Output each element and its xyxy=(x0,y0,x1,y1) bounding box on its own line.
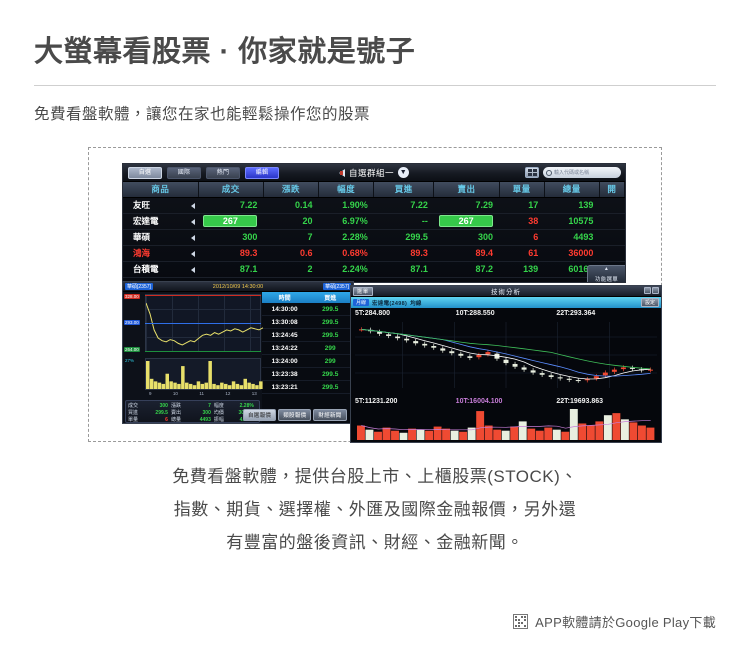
x-tick: 13 xyxy=(252,391,257,399)
tab-hot[interactable]: 熱門 xyxy=(206,167,240,179)
search-input[interactable]: 輸入代碼或名稱 xyxy=(543,167,621,178)
cell-lot: 6 xyxy=(499,229,544,245)
intraday-window: 華碩[2357] 2012/10/09 14:30:00 華碩[2357] 32… xyxy=(122,281,354,424)
list-item[interactable]: 13:24:45299.5 xyxy=(262,329,353,342)
volume-pct-label: 27% xyxy=(125,358,134,363)
arrow-icon xyxy=(191,267,195,273)
tick-time: 13:23:38 xyxy=(262,371,308,378)
cell-lot: 38 xyxy=(499,213,544,229)
group-selector[interactable]: 自選群組一 ▼ xyxy=(339,167,409,179)
cell-change: 2 xyxy=(263,261,318,277)
cell-volume: 36000 xyxy=(544,245,599,261)
x-tick: 11 xyxy=(199,391,204,399)
header-divider xyxy=(34,85,716,86)
page-title: 大螢幕看股票 · 你家就是號子 xyxy=(34,34,716,70)
quote-table-header: 商品 成交 漲跌 幅度 買進 賣出 單量 總量 開 xyxy=(123,182,625,197)
summary-key: 成交 xyxy=(128,402,141,409)
ma10-value: 10T:288.550 xyxy=(456,310,557,317)
cell-name: 華碩 xyxy=(123,229,198,245)
volume-legend: 5T:11231.200 10T:16004.100 22T:19693.863 xyxy=(351,396,661,406)
high-line xyxy=(145,295,261,296)
ma-legend: 5T:284.800 10T:288.550 22T:293.364 xyxy=(351,308,661,319)
ta-settings-button[interactable]: 設定 xyxy=(641,298,659,307)
search-icon xyxy=(546,170,552,176)
tick-price: 299.5 xyxy=(307,332,353,339)
arrow-icon xyxy=(191,219,195,225)
col-ask[interactable]: 賣出 xyxy=(434,182,499,197)
cell-volume: 139 xyxy=(544,197,599,213)
summary-key: 總量 xyxy=(171,416,184,423)
promo-caption: 免費看盤軟體，提供台股上市、上櫃股票(STOCK)、 指數、期貨、選擇權、外匯及… xyxy=(75,460,675,559)
vol22-value: 22T:19693.863 xyxy=(556,398,657,405)
intraday-symbol-tag[interactable]: 華碩[2357] xyxy=(125,283,153,290)
table-row[interactable]: 友旺7.220.141.90%7.227.2917139 xyxy=(123,197,625,213)
cell-change: 0.14 xyxy=(263,197,318,213)
summary-row: 買進 299.5 賣出 300 均價 300.42 xyxy=(128,409,257,416)
summary-key: 漲跌 xyxy=(171,402,184,409)
summary-value: 300 xyxy=(184,410,214,416)
summary-value: 4493 xyxy=(184,417,214,423)
tick-price: 299.5 xyxy=(307,371,353,378)
list-item[interactable]: 13:23:21299.5 xyxy=(262,381,353,394)
cell-deal: 89.3 xyxy=(198,245,263,261)
cell-volume: 10575 xyxy=(544,213,599,229)
intraday-titlebar: 華碩[2357] 2012/10/09 14:30:00 華碩[2357] xyxy=(123,282,353,292)
col-bid[interactable]: 買進 xyxy=(374,182,434,197)
summary-key: 振幅 xyxy=(214,416,227,423)
tab-edit[interactable]: 編輯 xyxy=(245,167,279,179)
cell-name: 台積電 xyxy=(123,261,198,277)
function-menu-label: 功能選單 xyxy=(595,277,618,283)
quote-table-body: 友旺7.220.141.90%7.227.2917139宏達電267206.97… xyxy=(123,197,625,277)
ta-menu-button[interactable]: 選單 xyxy=(353,287,373,296)
x-tick: 12 xyxy=(225,391,230,399)
window-controls[interactable] xyxy=(644,287,659,294)
ta-window-title: 技術分析 xyxy=(491,286,521,296)
intraday-datetime: 2012/10/09 14:30:00 xyxy=(213,284,263,290)
arrow-icon xyxy=(191,203,195,209)
summary-row: 單量 6 總量 4493 振幅 4.23% xyxy=(128,416,257,423)
quote-app-window: 自選 國際 熱門 編輯 自選群組一 ▼ 輸入代碼或名稱 商品 xyxy=(122,163,626,283)
function-menu-button[interactable]: ▲ 功能選單 xyxy=(587,265,625,282)
ma5-value: 5T:284.800 xyxy=(355,310,456,317)
summary-value: 299.5 xyxy=(141,410,171,416)
cell-name: 鴻海 xyxy=(123,245,198,261)
footer-text: APP軟體請於Google Play下載 xyxy=(535,612,716,631)
tick-time: 13:30:08 xyxy=(262,319,308,326)
cell-lot: 61 xyxy=(499,245,544,261)
candlestick-chart[interactable] xyxy=(351,319,661,391)
col-percent[interactable]: 幅度 xyxy=(319,182,374,197)
grid-icon[interactable] xyxy=(525,167,539,178)
caption-line: 有豐富的盤後資訊、財經、金融新聞。 xyxy=(75,526,675,559)
cell-deal: 267 xyxy=(198,213,263,229)
cell-bid: 7.22 xyxy=(374,197,434,213)
summary-value: 2.28% xyxy=(226,403,256,409)
cell-percent: 1.90% xyxy=(319,197,374,213)
table-row[interactable]: 華碩30072.28%299.530064493 xyxy=(123,229,625,245)
toolbar-right: 輸入代碼或名稱 xyxy=(525,167,621,178)
footer: APP軟體請於Google Play下載 xyxy=(513,612,716,631)
cell-open xyxy=(599,229,624,245)
price-label-mid: 293.00 xyxy=(124,320,140,325)
cell-bid: 299.5 xyxy=(374,229,434,245)
list-item[interactable]: 13:24:00299 xyxy=(262,355,353,368)
technical-analysis-window: 選單 技術分析 月線 宏達電(2498) 均線 設定 5T:284.800 10… xyxy=(350,285,662,443)
page-dots[interactable]: • • xyxy=(123,423,262,424)
price-label-high: 328.00 xyxy=(124,294,140,299)
cell-percent: 6.97% xyxy=(319,213,374,229)
prev-close-line xyxy=(145,323,261,324)
cell-lot: 17 xyxy=(499,197,544,213)
caption-line: 指數、期貨、選擇權、外匯及國際金融報價，另外還 xyxy=(75,493,675,526)
button-sector-quote[interactable]: 類股報價 xyxy=(278,409,311,421)
list-item[interactable]: 14:30:00299.5 xyxy=(262,303,353,316)
cell-change: 20 xyxy=(263,213,318,229)
col-deal[interactable]: 成交 xyxy=(198,182,263,197)
summary-key: 賣出 xyxy=(171,409,184,416)
tick-price: 299.5 xyxy=(307,306,353,313)
price-label-low: 264.00 xyxy=(124,347,140,352)
intraday-chart-area[interactable]: 328.00 293.00 264.00 27% 9 10 11 12 13 xyxy=(123,292,262,424)
tick-price: 299 xyxy=(307,358,353,365)
tick-price: 299 xyxy=(307,345,353,352)
page-header: 大螢幕看股票 · 你家就是號子 免費看盤軟體，讓您在家也能輕鬆操作您的股票 xyxy=(34,34,716,124)
ta-volume-chart xyxy=(351,406,661,443)
summary-value: 300 xyxy=(141,403,171,409)
summary-value: 7 xyxy=(184,403,214,409)
cell-deal: 87.1 xyxy=(198,261,263,277)
cell-percent: 2.24% xyxy=(319,261,374,277)
list-item[interactable]: 13:24:22299 xyxy=(262,342,353,355)
promo-page: 大螢幕看股票 · 你家就是號子 免費看盤軟體，讓您在家也能輕鬆操作您的股票 自選… xyxy=(0,0,750,649)
cell-percent: 2.28% xyxy=(319,229,374,245)
button-finance-news[interactable]: 財經新聞 xyxy=(313,409,346,421)
cell-name: 宏達電 xyxy=(123,213,198,229)
quote-table: 商品 成交 漲跌 幅度 買進 賣出 單量 總量 開 友旺7.220.141.90… xyxy=(123,182,625,278)
quote-toolbar: 自選 國際 熱門 編輯 自選群組一 ▼ 輸入代碼或名稱 xyxy=(123,164,625,182)
cell-volume: 4493 xyxy=(544,229,599,245)
intraday-button-row: 自選報價 類股報價 財經新聞 xyxy=(243,409,347,421)
cell-lot: 139 xyxy=(499,261,544,277)
cell-open xyxy=(599,245,624,261)
vol10-value: 10T:16004.100 xyxy=(456,398,557,405)
tick-time: 13:24:00 xyxy=(262,358,308,365)
search-placeholder: 輸入代碼或名稱 xyxy=(554,169,589,176)
close-icon xyxy=(652,287,659,294)
cell-bid: -- xyxy=(374,213,434,229)
ma22-value: 22T:293.364 xyxy=(556,310,657,317)
intraday-summary: 成交 300 漲跌 7 幅度 2.28% 買進 299.5 賣出 300 均價 … xyxy=(125,400,260,423)
col-volume[interactable]: 總量 xyxy=(544,182,599,197)
caret-up-icon: ▲ xyxy=(588,267,625,272)
tick-col-time: 時間 xyxy=(262,293,308,302)
tick-list[interactable]: 時間 買進 14:30:00299.513:30:08299.513:24:45… xyxy=(262,292,353,424)
x-tick: 10 xyxy=(173,391,178,399)
button-watchlist-quote[interactable]: 自選報價 xyxy=(243,409,276,421)
cell-ask: 267 xyxy=(434,213,499,229)
cell-ask: 7.29 xyxy=(434,197,499,213)
qr-code-icon xyxy=(513,614,528,629)
arrow-icon xyxy=(191,251,195,257)
chevron-down-icon[interactable]: ▼ xyxy=(398,167,409,178)
table-row[interactable]: 宏達電267206.97%--2673810575 xyxy=(123,213,625,229)
tick-rows: 14:30:00299.513:30:08299.513:24:45299.51… xyxy=(262,303,353,394)
arrow-icon xyxy=(191,235,195,241)
table-row[interactable]: 鴻海89.30.60.68%89.389.46136000 xyxy=(123,245,625,261)
tick-time: 13:24:22 xyxy=(262,345,308,352)
ta-subbar: 月線 宏達電(2498) 均線 設定 xyxy=(351,297,661,308)
volume-grid xyxy=(145,358,261,390)
tick-list-header: 時間 買進 xyxy=(262,292,353,303)
cell-ask: 300 xyxy=(434,229,499,245)
list-item[interactable]: 13:23:38299.5 xyxy=(262,368,353,381)
vol5-value: 5T:11231.200 xyxy=(355,398,456,405)
tick-price: 299.5 xyxy=(307,384,353,391)
summary-row: 成交 300 漲跌 7 幅度 2.28% xyxy=(128,402,257,409)
tick-time: 14:30:00 xyxy=(262,306,308,313)
col-open[interactable]: 開 xyxy=(599,182,624,197)
caption-line: 免費看盤軟體，提供台股上市、上櫃股票(STOCK)、 xyxy=(75,460,675,493)
col-change[interactable]: 漲跌 xyxy=(263,182,318,197)
cell-open xyxy=(599,213,624,229)
tab-watchlist[interactable]: 自選 xyxy=(128,167,162,179)
intraday-symbol-tag-2[interactable]: 華碩[2357] xyxy=(323,283,351,290)
col-name[interactable]: 商品 xyxy=(123,182,198,197)
ta-titlebar: 選單 技術分析 xyxy=(351,286,661,297)
ta-indicator: 均線 xyxy=(410,299,422,307)
cell-bid: 87.1 xyxy=(374,261,434,277)
x-tick: 9 xyxy=(149,391,152,399)
speaker-icon xyxy=(339,169,345,177)
group-label: 自選群組一 xyxy=(349,167,394,179)
low-line xyxy=(145,351,261,352)
list-item[interactable]: 13:30:08299.5 xyxy=(262,316,353,329)
summary-value: 6 xyxy=(141,417,171,423)
cell-deal: 300 xyxy=(198,229,263,245)
page-subtitle: 免費看盤軟體，讓您在家也能輕鬆操作您的股票 xyxy=(34,102,716,124)
ta-symbol: 宏達電(2498) xyxy=(372,299,407,307)
cell-ask: 89.4 xyxy=(434,245,499,261)
cell-open xyxy=(599,197,624,213)
summary-key: 買進 xyxy=(128,409,141,416)
ta-period-tag[interactable]: 月線 xyxy=(353,299,369,306)
cell-change: 7 xyxy=(263,229,318,245)
cell-percent: 0.68% xyxy=(319,245,374,261)
volume-bars xyxy=(146,359,263,389)
tick-col-bid: 買進 xyxy=(307,293,353,302)
summary-key: 幅度 xyxy=(214,402,227,409)
summary-key: 單量 xyxy=(128,416,141,423)
tick-price: 299.5 xyxy=(307,319,353,326)
cell-deal: 7.22 xyxy=(198,197,263,213)
cell-name: 友旺 xyxy=(123,197,198,213)
intraday-x-axis: 9 10 11 12 13 xyxy=(145,391,261,399)
tab-international[interactable]: 國際 xyxy=(167,167,201,179)
intraday-body: 328.00 293.00 264.00 27% 9 10 11 12 13 xyxy=(123,292,353,424)
tick-time: 13:24:45 xyxy=(262,332,308,339)
table-row[interactable]: 台積電87.122.24%87.187.213960161 xyxy=(123,261,625,277)
cell-change: 0.6 xyxy=(263,245,318,261)
tick-time: 13:23:21 xyxy=(262,384,308,391)
cell-bid: 89.3 xyxy=(374,245,434,261)
col-lot[interactable]: 單量 xyxy=(499,182,544,197)
cell-ask: 87.2 xyxy=(434,261,499,277)
minimize-icon xyxy=(644,287,651,294)
summary-key: 均價 xyxy=(214,409,227,416)
